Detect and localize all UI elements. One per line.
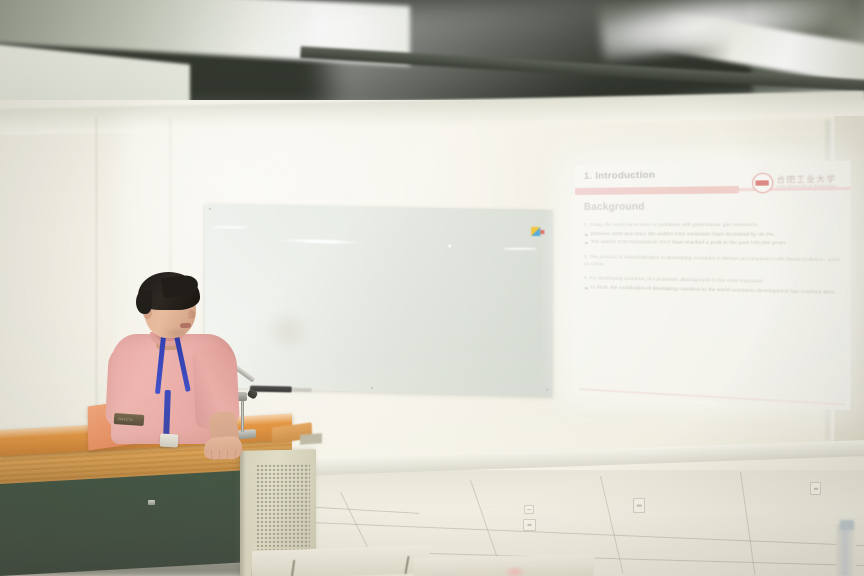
wall-outlet-small[interactable]: [524, 505, 534, 514]
sleeve-patch: PATCH: [114, 413, 145, 426]
slide-university-logo: 合肥工业大学 Hefei University of Technology: [752, 171, 841, 194]
presenter-chin-shadow: [162, 328, 190, 338]
speaker-grille-icon: [256, 464, 310, 550]
slide-accent-bar: [575, 186, 739, 195]
podium-lock-icon[interactable]: [148, 500, 155, 505]
slide-bullet: The world's CO2 emissions in 2017 have r…: [584, 240, 841, 249]
sleeve-patch-text: PATCH: [118, 416, 133, 422]
presenter-nose: [188, 310, 195, 319]
foreground-pink-object: [504, 566, 526, 576]
wall-outlet[interactable]: [523, 519, 536, 531]
whiteboard-highlight-dot: [448, 244, 451, 247]
slide-lead: 1. Today, the world faces serious proble…: [584, 222, 841, 230]
foreground-chair-right: [836, 524, 856, 576]
presenter-fingers: [204, 450, 240, 459]
presenter-mouth: [180, 323, 191, 328]
presenter-hair-side: [136, 290, 152, 314]
logo-en-name: Hefei University of Technology: [777, 185, 837, 189]
slide-section-title: 1. Introduction: [584, 170, 655, 182]
slide-bullet: Between 2000 and 2014, the world's CO2 e…: [584, 231, 841, 240]
university-seal-icon: [752, 172, 773, 193]
wall-outlet[interactable]: [633, 498, 645, 513]
slide-body: 1. Today, the world faces serious proble…: [584, 222, 841, 306]
slide-block: 1. Today, the world faces serious proble…: [584, 222, 841, 249]
whiteboard-sticker-icon: [531, 227, 540, 236]
tile-grout-line: [740, 472, 755, 575]
wall-seam: [96, 118, 97, 418]
logo-cn-name: 合肥工业大学: [777, 175, 837, 184]
whiteboard-eraser: [292, 388, 312, 392]
whiteboard-smudge: [265, 310, 311, 352]
slide-block: 2. The process of industrialization in d…: [584, 254, 841, 272]
desk-support: [300, 433, 322, 445]
name-badge: [160, 434, 179, 448]
slide-lead: 2. The process of industrialization in d…: [584, 254, 841, 272]
wall-outlet[interactable]: [810, 482, 821, 495]
whiteboard-sticker-icon: [540, 230, 544, 234]
presentation-photo-scene: 1. Introduction 合肥工业大学 Hefei University …: [0, 0, 864, 576]
foreground-chair-right-top: [840, 520, 854, 530]
projected-slide: 1. Introduction 合肥工业大学 Hefei University …: [575, 160, 850, 410]
foreground-desk: [252, 545, 430, 576]
slide-heading: Background: [584, 201, 645, 212]
presenter: PATCH: [100, 272, 270, 472]
slide-block: 3. For developing countries, the economi…: [584, 275, 841, 298]
